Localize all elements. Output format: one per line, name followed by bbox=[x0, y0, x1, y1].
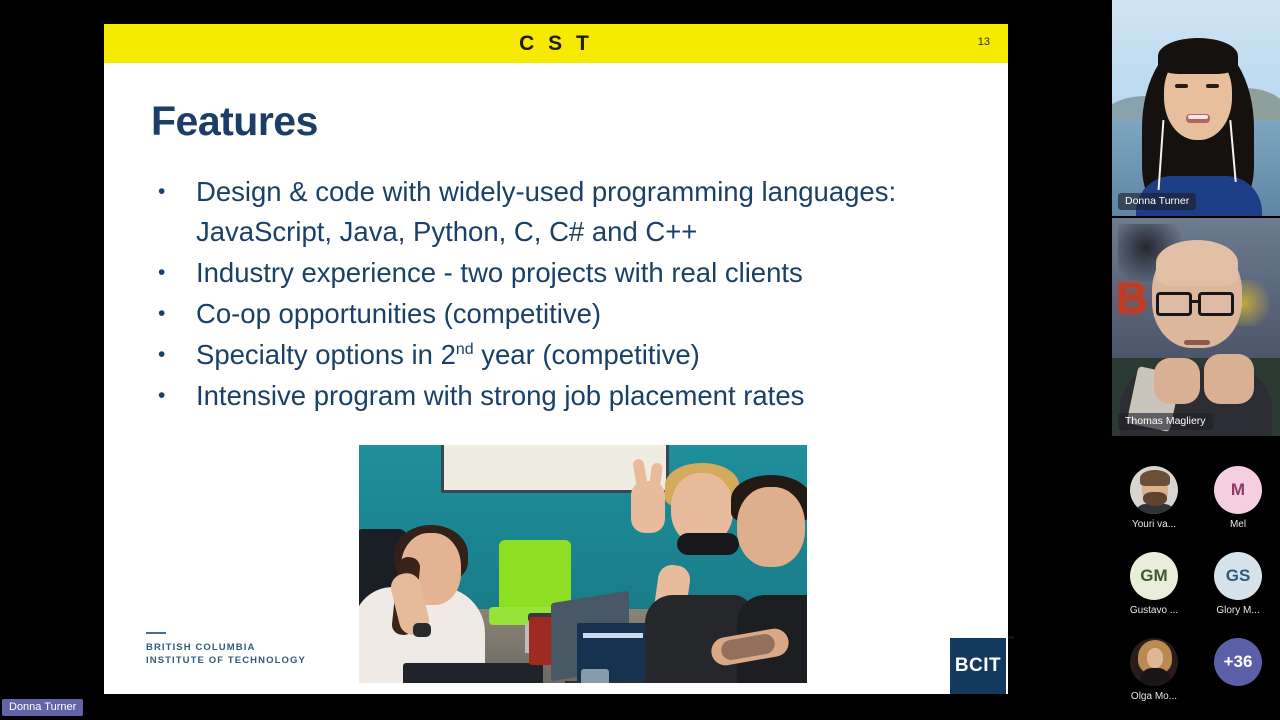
avatar-body bbox=[1140, 668, 1170, 686]
slide-heading: Features bbox=[151, 98, 318, 145]
wordmark-line-2: INSTITUTE OF TECHNOLOGY bbox=[146, 654, 306, 667]
participant-mel[interactable]: M Mel bbox=[1201, 466, 1275, 530]
tile1-bangs bbox=[1158, 38, 1238, 74]
photo-mug bbox=[529, 617, 553, 665]
bullet-text-post: year (competitive) bbox=[474, 339, 700, 370]
bullet-text: Co-op opportunities (competitive) bbox=[196, 294, 982, 334]
participant-name: Gustavo ... bbox=[1130, 605, 1178, 616]
photo-laptop-left bbox=[403, 663, 543, 683]
tile1-eye-left bbox=[1175, 84, 1188, 88]
participant-row-1: Youri va... M Mel bbox=[1112, 466, 1280, 530]
bullet-marker-icon: • bbox=[152, 172, 196, 212]
participant-overflow-count[interactable]: +36 bbox=[1201, 638, 1275, 702]
bullet-marker-icon: • bbox=[152, 376, 196, 416]
tile2-hand-right bbox=[1204, 354, 1254, 404]
avatar-photo bbox=[1130, 638, 1178, 686]
bcit-logo-text: BCIT bbox=[955, 655, 1001, 677]
bullet-item-3: • Co-op opportunities (competitive) bbox=[152, 294, 982, 334]
bullet-marker-icon: • bbox=[152, 335, 196, 375]
video-tile-name-label: Donna Turner bbox=[1118, 193, 1196, 210]
video-tile-thomas-magliery[interactable]: B Thomas Magliery bbox=[1112, 218, 1280, 436]
tile1-teeth bbox=[1188, 115, 1208, 119]
bullet-item-4: • Specialty options in 2nd year (competi… bbox=[152, 335, 982, 375]
participant-gustavo[interactable]: GM Gustavo ... bbox=[1117, 552, 1191, 616]
video-tile-donna-turner[interactable]: Donna Turner bbox=[1112, 0, 1280, 216]
avatar-beard bbox=[1143, 492, 1167, 506]
bcit-wordmark: BRITISH COLUMBIA INSTITUTE OF TECHNOLOGY bbox=[146, 632, 306, 667]
bullet-item-2: • Industry experience - two projects wit… bbox=[152, 253, 982, 293]
bullet-text-superscript: nd bbox=[456, 341, 474, 358]
tile1-eye-right bbox=[1206, 84, 1219, 88]
slide-photo-classroom bbox=[359, 445, 807, 683]
bullet-item-5: • Intensive program with strong job plac… bbox=[152, 376, 982, 416]
participant-row-3: Olga Mo... +36 bbox=[1112, 638, 1280, 702]
avatar-hair bbox=[1140, 470, 1170, 486]
photo-headphones bbox=[677, 533, 739, 555]
avatar-initials: GS bbox=[1214, 552, 1262, 600]
video-tile-name-label: Thomas Magliery bbox=[1118, 413, 1213, 430]
avatar-initials: GM bbox=[1130, 552, 1178, 600]
meeting-screen-share-view: C S T 13 Features • Design & code with w… bbox=[0, 0, 1280, 720]
slide-number: 13 bbox=[978, 36, 990, 48]
bullet-text: Industry experience - two projects with … bbox=[196, 253, 982, 293]
presentation-slide: C S T 13 Features • Design & code with w… bbox=[104, 24, 1008, 694]
participant-avatar-grid: Youri va... M Mel GM Gustavo ... GS Glor… bbox=[1112, 466, 1280, 720]
avatar-initials: M bbox=[1214, 466, 1262, 514]
bullet-list: • Design & code with widely-used program… bbox=[152, 172, 982, 417]
tile2-head-top bbox=[1156, 240, 1238, 286]
bullet-item-1: • Design & code with widely-used program… bbox=[152, 172, 982, 252]
tile2-glasses-right-lens bbox=[1198, 292, 1234, 316]
bullet-marker-icon: • bbox=[152, 294, 196, 334]
bcit-logo: BCIT bbox=[950, 638, 1006, 694]
bullet-marker-icon: • bbox=[152, 253, 196, 293]
participant-name: Olga Mo... bbox=[1131, 691, 1177, 702]
wordmark-dash-icon bbox=[146, 632, 166, 634]
slide-header-title: C S T bbox=[104, 24, 1008, 63]
tile2-glasses-bridge bbox=[1191, 300, 1200, 303]
avatar-photo bbox=[1130, 466, 1178, 514]
active-speaker-name-label: Donna Turner bbox=[2, 699, 83, 716]
bullet-text: Intensive program with strong job placem… bbox=[196, 376, 982, 416]
participant-glory[interactable]: GS Glory M... bbox=[1201, 552, 1275, 616]
tile2-hand-left bbox=[1154, 358, 1200, 404]
photo-laptop-screen-content bbox=[583, 633, 643, 638]
bullet-text-pre: Specialty options in 2 bbox=[196, 339, 456, 370]
participant-olga[interactable]: Olga Mo... bbox=[1117, 638, 1191, 702]
participant-name: Mel bbox=[1230, 519, 1246, 530]
tile2-glasses-left-lens bbox=[1156, 292, 1192, 316]
avatar-face bbox=[1147, 648, 1163, 668]
participant-name: Glory M... bbox=[1216, 605, 1259, 616]
bullet-text: Specialty options in 2nd year (competiti… bbox=[196, 335, 982, 375]
avatar-overflow-badge: +36 bbox=[1214, 638, 1262, 686]
participant-name: Youri va... bbox=[1132, 519, 1176, 530]
tile2-mouth bbox=[1184, 340, 1210, 345]
participant-youri[interactable]: Youri va... bbox=[1117, 466, 1191, 530]
photo-student-3-head bbox=[737, 487, 805, 567]
wordmark-line-1: BRITISH COLUMBIA bbox=[146, 641, 306, 654]
participant-panel: Donna Turner B Thomas Magliery bbox=[1112, 0, 1280, 720]
photo-watch bbox=[413, 623, 431, 637]
tile2-letter-b-sign: B bbox=[1116, 270, 1146, 328]
bullet-text: Design & code with widely-used programmi… bbox=[196, 172, 982, 252]
bcit-trademark-icon: ™ bbox=[1007, 636, 1014, 643]
participant-row-2: GM Gustavo ... GS Glory M... bbox=[1112, 552, 1280, 616]
photo-glass bbox=[581, 669, 609, 683]
